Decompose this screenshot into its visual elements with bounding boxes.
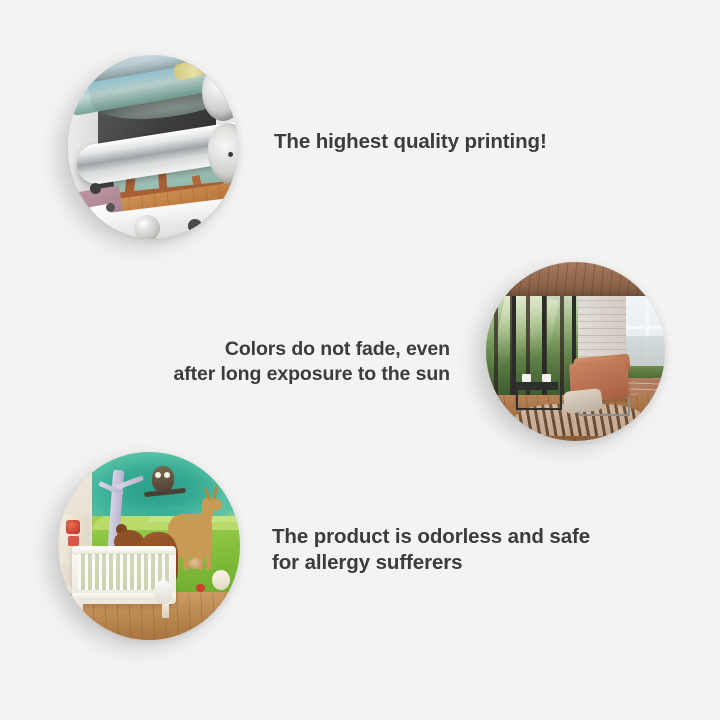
promo-canvas: The highest quality printing! bbox=[0, 0, 720, 720]
living-room-forest-mural-photo bbox=[486, 262, 665, 441]
feature-text-colors-do-not-fade: Colors do not fade, even after long expo… bbox=[128, 337, 450, 387]
nursery-animal-mural-photo bbox=[58, 452, 240, 640]
feature-text-quality-printing: The highest quality printing! bbox=[274, 129, 547, 155]
printing-press-photo bbox=[68, 55, 238, 239]
feature-text-odorless-and-safe: The product is odorless and safe for all… bbox=[272, 524, 590, 576]
